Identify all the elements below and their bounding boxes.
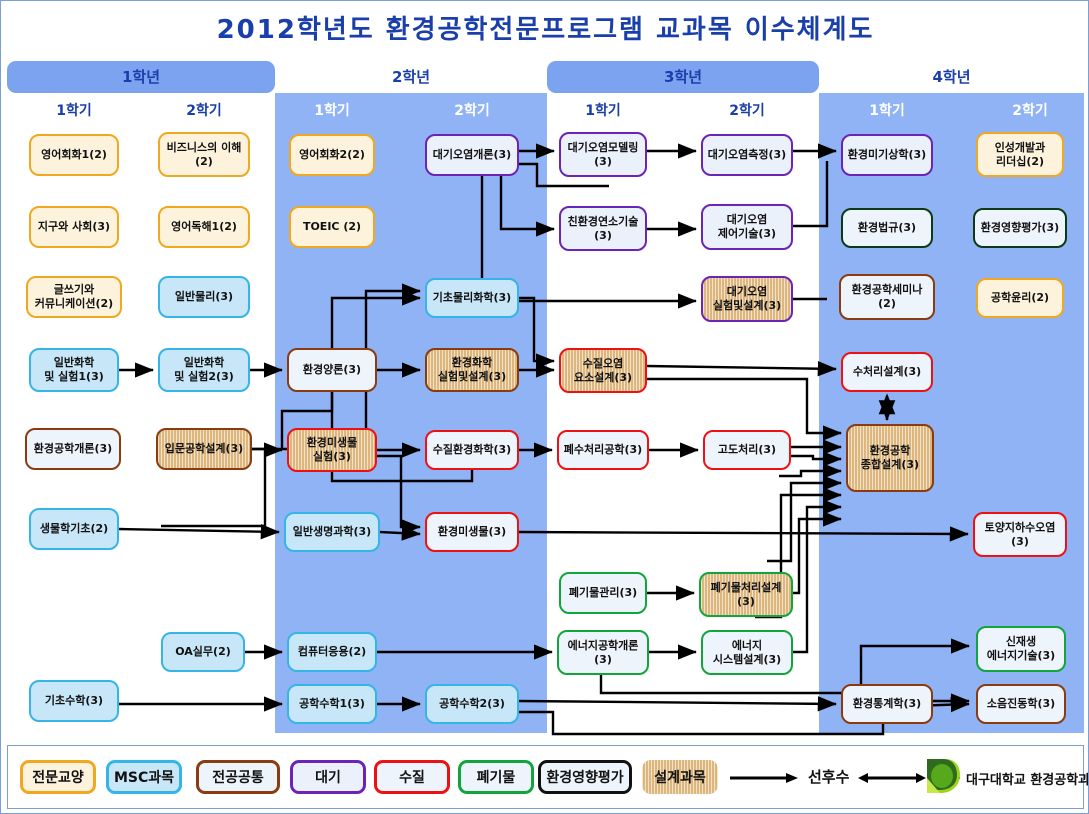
course-box[interactable]: 입문공학설계(3) bbox=[156, 428, 252, 470]
course-box[interactable]: 일반물리(3) bbox=[158, 276, 250, 318]
course-box[interactable]: 대기오염개론(3) bbox=[425, 134, 519, 176]
course-box[interactable]: 기초수학(3) bbox=[29, 680, 119, 722]
course-box[interactable]: 수질환경화학(3) bbox=[425, 430, 519, 470]
legend-item: 설계과목 bbox=[642, 760, 718, 794]
course-box[interactable]: 환경양론(3) bbox=[287, 348, 377, 392]
course-box[interactable]: TOEIC (2) bbox=[289, 206, 375, 248]
course-box[interactable]: 환경법규(3) bbox=[841, 208, 933, 248]
course-box[interactable]: 인성개발과리더십(2) bbox=[976, 132, 1064, 177]
legend-item: 폐기물 bbox=[458, 760, 534, 794]
sem-label-1-2: 2학기 bbox=[149, 100, 259, 120]
course-box[interactable]: 공학수학1(3) bbox=[287, 684, 377, 724]
course-box[interactable]: 친환경연소기술(3) bbox=[559, 206, 647, 251]
page-title: 2012학년도 환경공학전문프로그램 교과목 이수체계도 bbox=[1, 9, 1089, 46]
course-box[interactable]: 환경통계학(3) bbox=[841, 684, 933, 724]
course-box[interactable]: 환경영향평가(3) bbox=[973, 208, 1067, 248]
legend-prereq-label: 선후수 bbox=[808, 766, 849, 787]
course-box[interactable]: 환경미기상학(3) bbox=[841, 134, 933, 176]
course-box[interactable]: 에너지공학개론(3) bbox=[557, 630, 649, 675]
curriculum-diagram: 2012학년도 환경공학전문프로그램 교과목 이수체계도 1학년 2학년 3학년… bbox=[0, 0, 1089, 814]
course-box[interactable]: 소음진동학(3) bbox=[976, 684, 1066, 724]
sem-label-3-1: 1학기 bbox=[548, 100, 658, 120]
legend-item: 전문교양 bbox=[20, 760, 96, 794]
course-box[interactable]: 고도처리(3) bbox=[703, 430, 791, 470]
course-box[interactable]: 일반화학및 실험2(3) bbox=[158, 348, 250, 392]
logo-mark-icon bbox=[923, 756, 963, 796]
course-box[interactable]: 일반화학및 실험1(3) bbox=[29, 348, 119, 392]
course-box[interactable]: 대기오염실험및설계(3) bbox=[701, 276, 793, 322]
sem-label-2-1: 1학기 bbox=[277, 100, 387, 120]
course-box[interactable]: 폐수처리공학(3) bbox=[557, 430, 649, 470]
course-box[interactable]: 컴퓨터응용(2) bbox=[287, 632, 377, 672]
legend: 전문교양MSC과목전공공통대기수질폐기물환경영향평가설계과목 선후수 병수 대구… bbox=[7, 745, 1084, 809]
course-box[interactable]: 대기오염제어기술(3) bbox=[701, 204, 793, 250]
course-box[interactable]: 대기오염모델링(3) bbox=[559, 132, 647, 177]
course-box[interactable]: 영어회화1(2) bbox=[29, 134, 119, 176]
course-box[interactable]: 에너지시스템설계(3) bbox=[701, 630, 793, 675]
course-box[interactable]: 대기오염측정(3) bbox=[701, 134, 793, 176]
sem-label-3-2: 2학기 bbox=[692, 100, 802, 120]
course-box[interactable]: 공학수학2(3) bbox=[425, 684, 519, 724]
course-box[interactable]: 신재생에너지기술(3) bbox=[976, 626, 1066, 672]
course-box[interactable]: 환경공학세미나(2) bbox=[839, 274, 935, 320]
legend-item: MSC과목 bbox=[106, 760, 182, 794]
sem-label-1-1: 1학기 bbox=[19, 100, 129, 120]
course-box[interactable]: 기초물리화학(3) bbox=[425, 278, 519, 318]
year-header-2: 2학년 bbox=[275, 61, 547, 93]
course-box[interactable]: 환경화학실험및설계(3) bbox=[425, 348, 519, 392]
university-logo: 대구대학교 환경공학과 bbox=[923, 756, 1089, 800]
legend-item: 환경영향평가 bbox=[538, 760, 632, 794]
prereq-arrow-icon bbox=[728, 772, 800, 784]
course-box[interactable]: 토양지하수오염(3) bbox=[973, 512, 1067, 557]
course-box[interactable]: 영어독해1(2) bbox=[158, 206, 250, 248]
course-box[interactable]: 비즈니스의 이해(2) bbox=[158, 132, 250, 177]
course-box[interactable]: 수질오염요소설계(3) bbox=[559, 348, 647, 393]
course-box[interactable]: 폐기물처리설계(3) bbox=[699, 572, 793, 617]
year-header-1: 1학년 bbox=[7, 61, 275, 93]
course-box[interactable]: 지구와 사회(3) bbox=[29, 206, 119, 248]
course-box[interactable]: 환경공학개론(3) bbox=[25, 428, 121, 470]
course-box[interactable]: 공학윤리(2) bbox=[976, 278, 1064, 318]
course-box[interactable]: 환경공학종합설계(3) bbox=[846, 424, 934, 492]
course-box[interactable]: 일반생명과학(3) bbox=[284, 512, 380, 552]
sem-label-2-2: 2학기 bbox=[417, 100, 527, 120]
legend-item: 수질 bbox=[374, 760, 450, 794]
course-box[interactable]: 영어회화2(2) bbox=[289, 134, 375, 176]
coreq-arrow-icon bbox=[858, 772, 926, 784]
sem-label-4-2: 2학기 bbox=[975, 100, 1085, 120]
legend-item: 전공공통 bbox=[196, 760, 280, 794]
legend-item: 대기 bbox=[290, 760, 366, 794]
course-box[interactable]: 글쓰기와커뮤니케이션(2) bbox=[26, 276, 122, 318]
course-box[interactable]: 수처리설계(3) bbox=[841, 352, 933, 392]
course-box[interactable]: OA실무(2) bbox=[161, 632, 245, 672]
year-header-4: 4학년 bbox=[819, 61, 1084, 93]
course-box[interactable]: 환경미생물실험(3) bbox=[287, 428, 377, 472]
sem-label-4-1: 1학기 bbox=[832, 100, 942, 120]
course-box[interactable]: 폐기물관리(3) bbox=[559, 572, 647, 614]
logo-text: 대구대학교 환경공학과 bbox=[966, 769, 1089, 788]
course-box[interactable]: 환경미생물(3) bbox=[425, 512, 519, 552]
course-box[interactable]: 생물학기초(2) bbox=[29, 508, 119, 550]
year-header-3: 3학년 bbox=[547, 61, 819, 93]
